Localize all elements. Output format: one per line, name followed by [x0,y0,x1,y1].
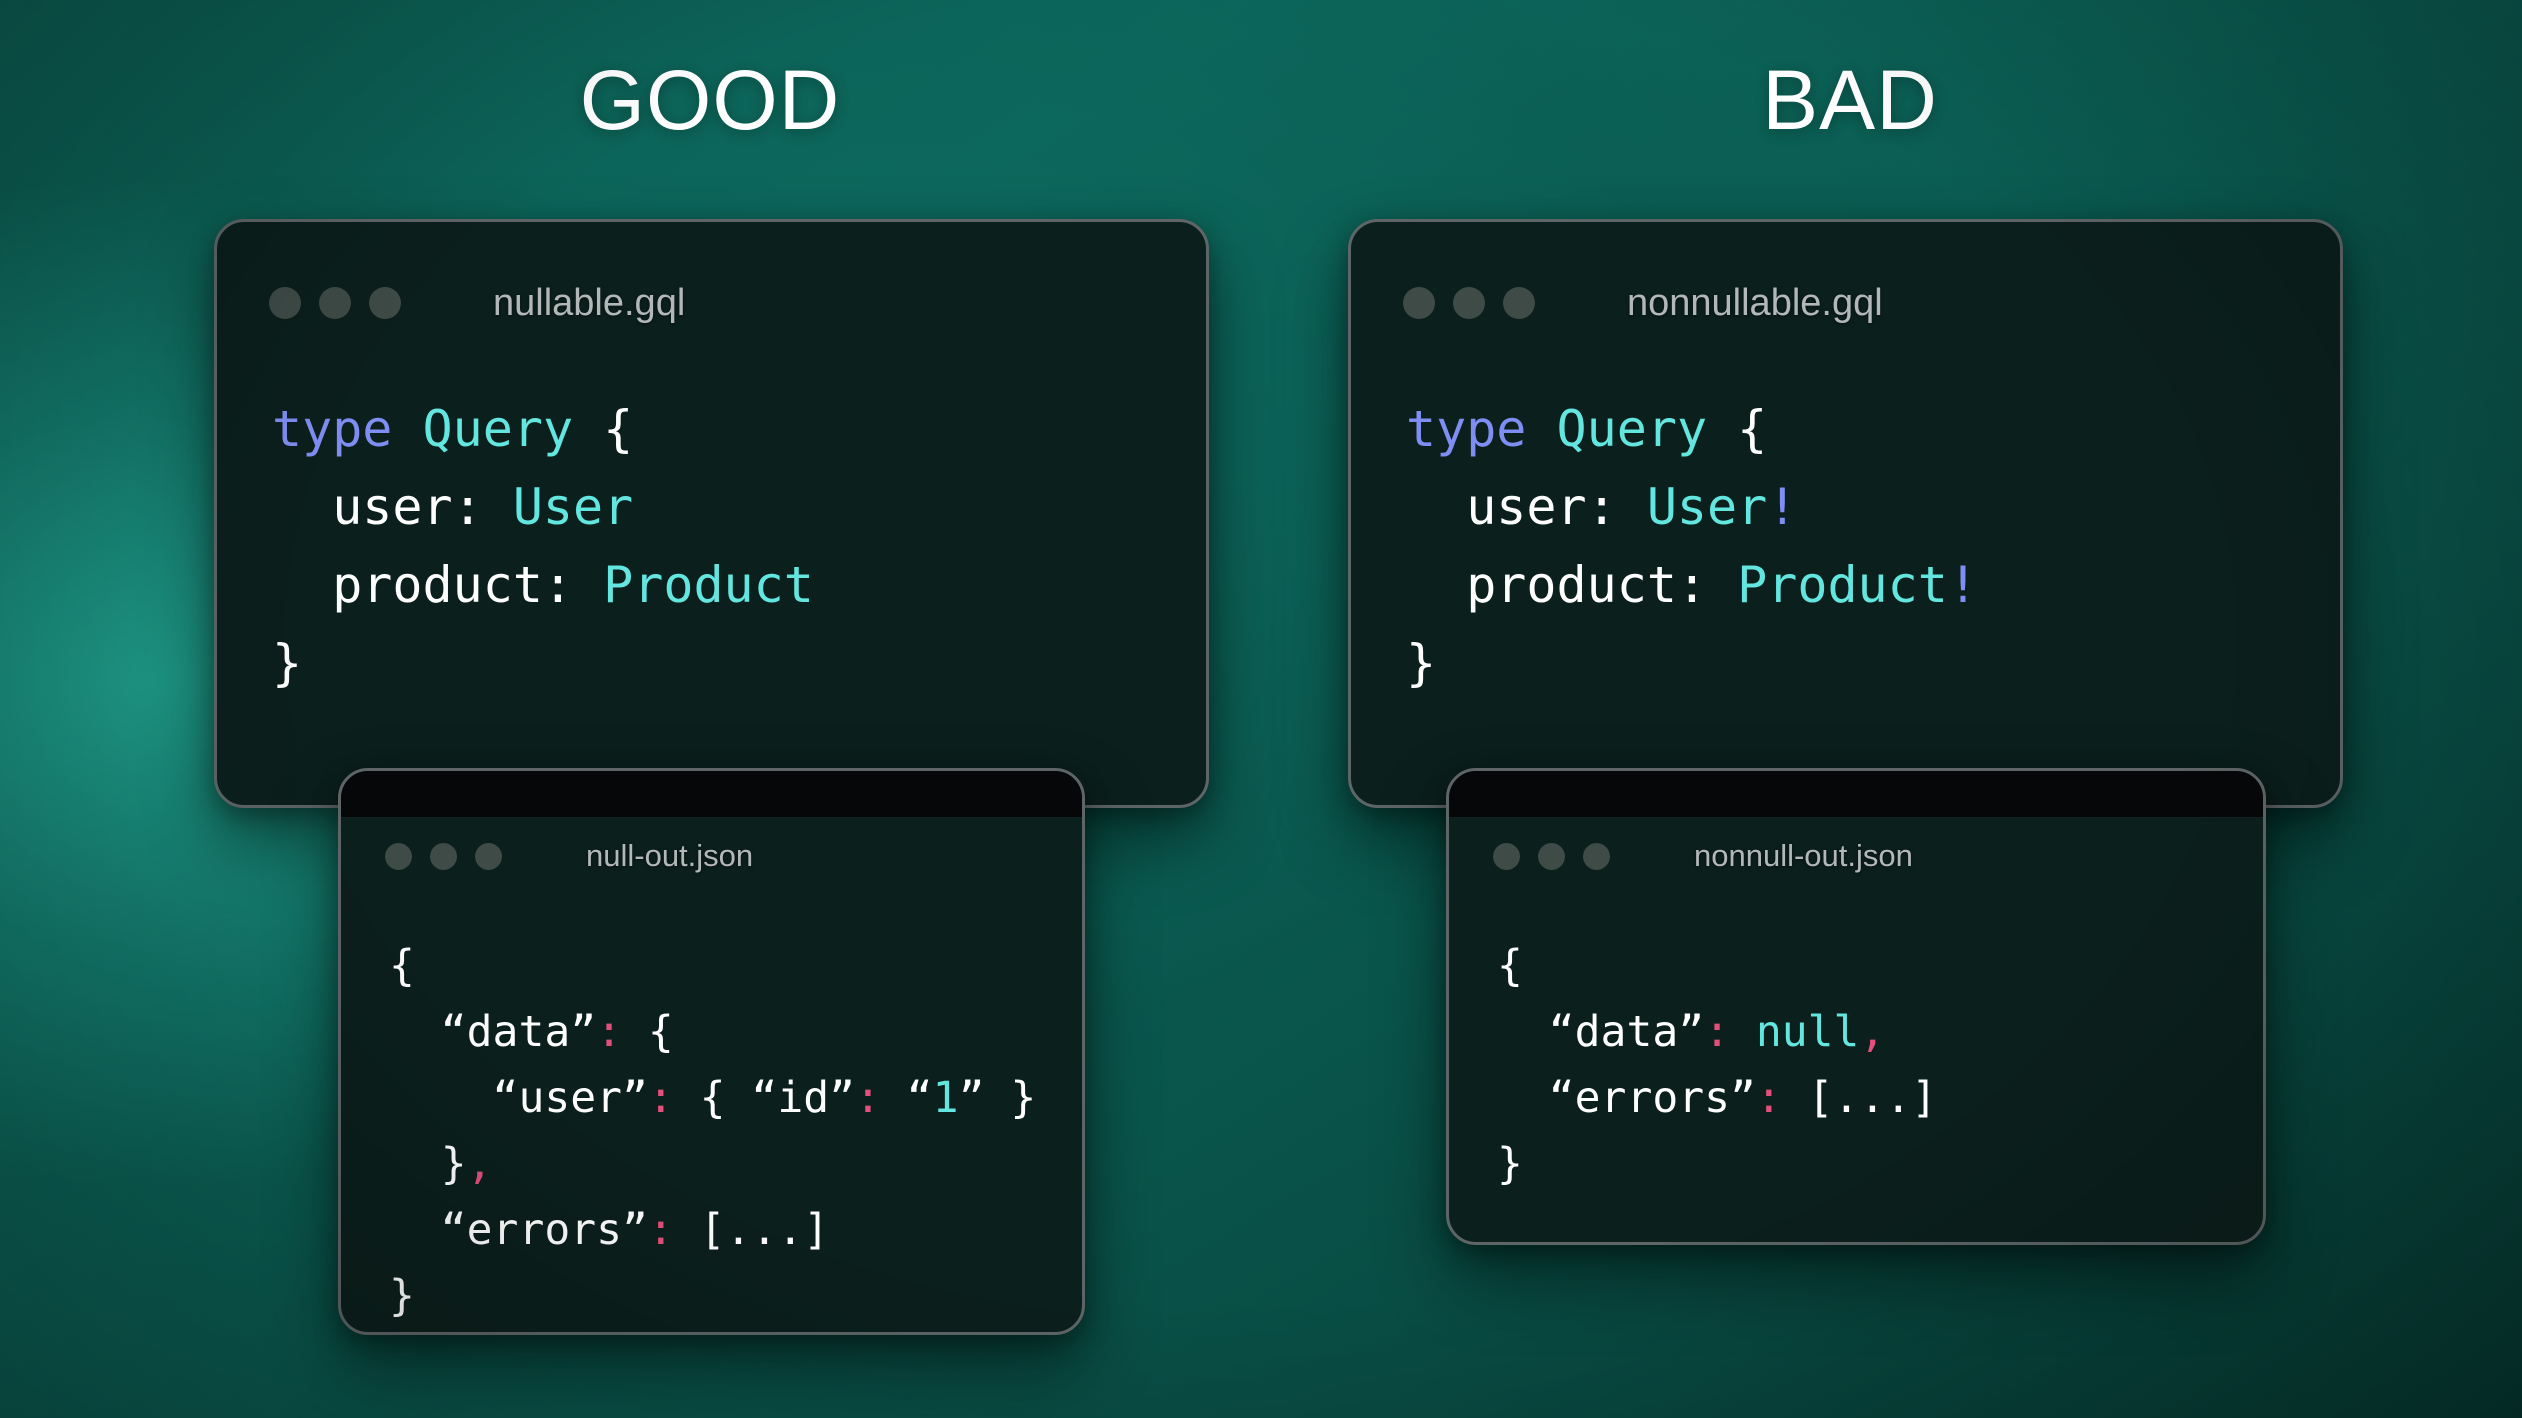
code-token: { “id” [674,1073,855,1123]
minimize-dot-icon[interactable] [430,843,457,870]
code-token: null [1756,1007,1860,1057]
code-line: “data”: null, [1497,999,2263,1065]
code-line: user: User [272,468,1206,546]
code-line: { [389,933,1082,999]
window-titlebar: nonnullable.gql [1351,274,2340,332]
code-token: : [1704,1007,1730,1057]
code-token: : [648,1073,674,1123]
close-dot-icon[interactable] [1403,287,1435,319]
code-token: } [389,1271,415,1321]
code-token: User [1647,478,1767,536]
code-line: product: Product [272,546,1206,624]
code-line: } [272,624,1206,702]
code-window-nonnull-out-json[interactable]: nonnull-out.json { “data”: null, “errors… [1446,768,2266,1245]
code-window-nonnullable-gql[interactable]: nonnullable.gql type Query { user: User!… [1348,219,2343,808]
code-window-nullable-gql[interactable]: nullable.gql type Query { user: User pro… [214,219,1209,808]
window-filename: nullable.gql [493,282,685,325]
code-token: [...] [1782,1073,1937,1123]
code-token: “ [881,1073,933,1123]
close-dot-icon[interactable] [385,843,412,870]
code-token: ” } [959,1073,1037,1123]
code-token: } [389,1139,467,1189]
code-token: user: [1406,478,1647,536]
code-token: } [272,634,302,692]
code-token: product: [272,556,603,614]
code-line: } [1406,624,2340,702]
code-token: “data” [1497,1007,1704,1057]
code-token: : [1756,1073,1782,1123]
window-filename: nonnull-out.json [1694,838,1913,874]
code-block: type Query { user: User product: Product… [217,390,1206,702]
code-line: product: Product! [1406,546,2340,624]
maximize-dot-icon[interactable] [369,287,401,319]
code-token: “data” [389,1007,596,1057]
code-line: } [1497,1131,2263,1197]
code-token: } [1406,634,1436,692]
code-token: { [1497,941,1523,991]
code-token: [...] [674,1205,829,1255]
traffic-light-group [1403,287,1535,319]
minimize-dot-icon[interactable] [319,287,351,319]
traffic-light-group [1493,843,1610,870]
window-top-strip [1449,771,2263,818]
window-top-strip [341,771,1082,818]
code-token: { [573,400,633,458]
code-line: “user”: { “id”: “1” } [389,1065,1082,1131]
window-titlebar: null-out.json [341,827,1082,885]
minimize-dot-icon[interactable] [1538,843,1565,870]
code-token: type [272,400,392,458]
code-token: “errors” [1497,1073,1756,1123]
code-token [392,400,422,458]
code-line: }, [389,1131,1082,1197]
code-line: “errors”: [...] [389,1197,1082,1263]
code-token: type [1406,400,1526,458]
code-block: { “data”: null, “errors”: [...]} [1449,933,2263,1197]
minimize-dot-icon[interactable] [1453,287,1485,319]
window-titlebar: nullable.gql [217,274,1206,332]
traffic-light-group [385,843,502,870]
code-token: Product [603,556,814,614]
code-line: { [1497,933,2263,999]
code-token: User [513,478,633,536]
code-line: type Query { [1406,390,2340,468]
code-block: { “data”: { “user”: { “id”: “1” } }, “er… [341,933,1082,1329]
close-dot-icon[interactable] [1493,843,1520,870]
code-token: { [622,1007,674,1057]
maximize-dot-icon[interactable] [475,843,502,870]
code-token: : [596,1007,622,1057]
code-token: Product [1737,556,1948,614]
traffic-light-group [269,287,401,319]
code-line: } [389,1263,1082,1329]
code-window-null-out-json[interactable]: null-out.json { “data”: { “user”: { “id”… [338,768,1085,1335]
maximize-dot-icon[interactable] [1503,287,1535,319]
code-token: ! [1767,478,1797,536]
code-token: “errors” [389,1205,648,1255]
code-line: “data”: { [389,999,1082,1065]
code-token: : [855,1073,881,1123]
code-token: } [1497,1139,1523,1189]
code-token: user: [272,478,513,536]
code-token: : [648,1205,674,1255]
code-token [1730,1007,1756,1057]
code-block: type Query { user: User! product: Produc… [1351,390,2340,702]
slide-canvas: GOOD BAD nullable.gql type Query { user:… [0,0,2522,1418]
code-token [1526,400,1556,458]
column-heading-good: GOOD [300,58,1120,142]
code-token: , [1859,1007,1885,1057]
code-token: ! [1948,556,1978,614]
code-token: { [1707,400,1767,458]
close-dot-icon[interactable] [269,287,301,319]
code-token: 1 [933,1073,959,1123]
code-token: Query [1557,400,1708,458]
code-token: , [467,1139,493,1189]
code-token: product: [1406,556,1737,614]
code-line: “errors”: [...] [1497,1065,2263,1131]
code-line: type Query { [272,390,1206,468]
code-line: user: User! [1406,468,2340,546]
window-filename: nonnullable.gql [1627,282,1883,325]
code-token: “user” [389,1073,648,1123]
maximize-dot-icon[interactable] [1583,843,1610,870]
window-filename: null-out.json [586,838,753,874]
code-token: { [389,941,415,991]
column-heading-bad: BAD [1440,58,2260,142]
window-titlebar: nonnull-out.json [1449,827,2263,885]
code-token: Query [423,400,574,458]
